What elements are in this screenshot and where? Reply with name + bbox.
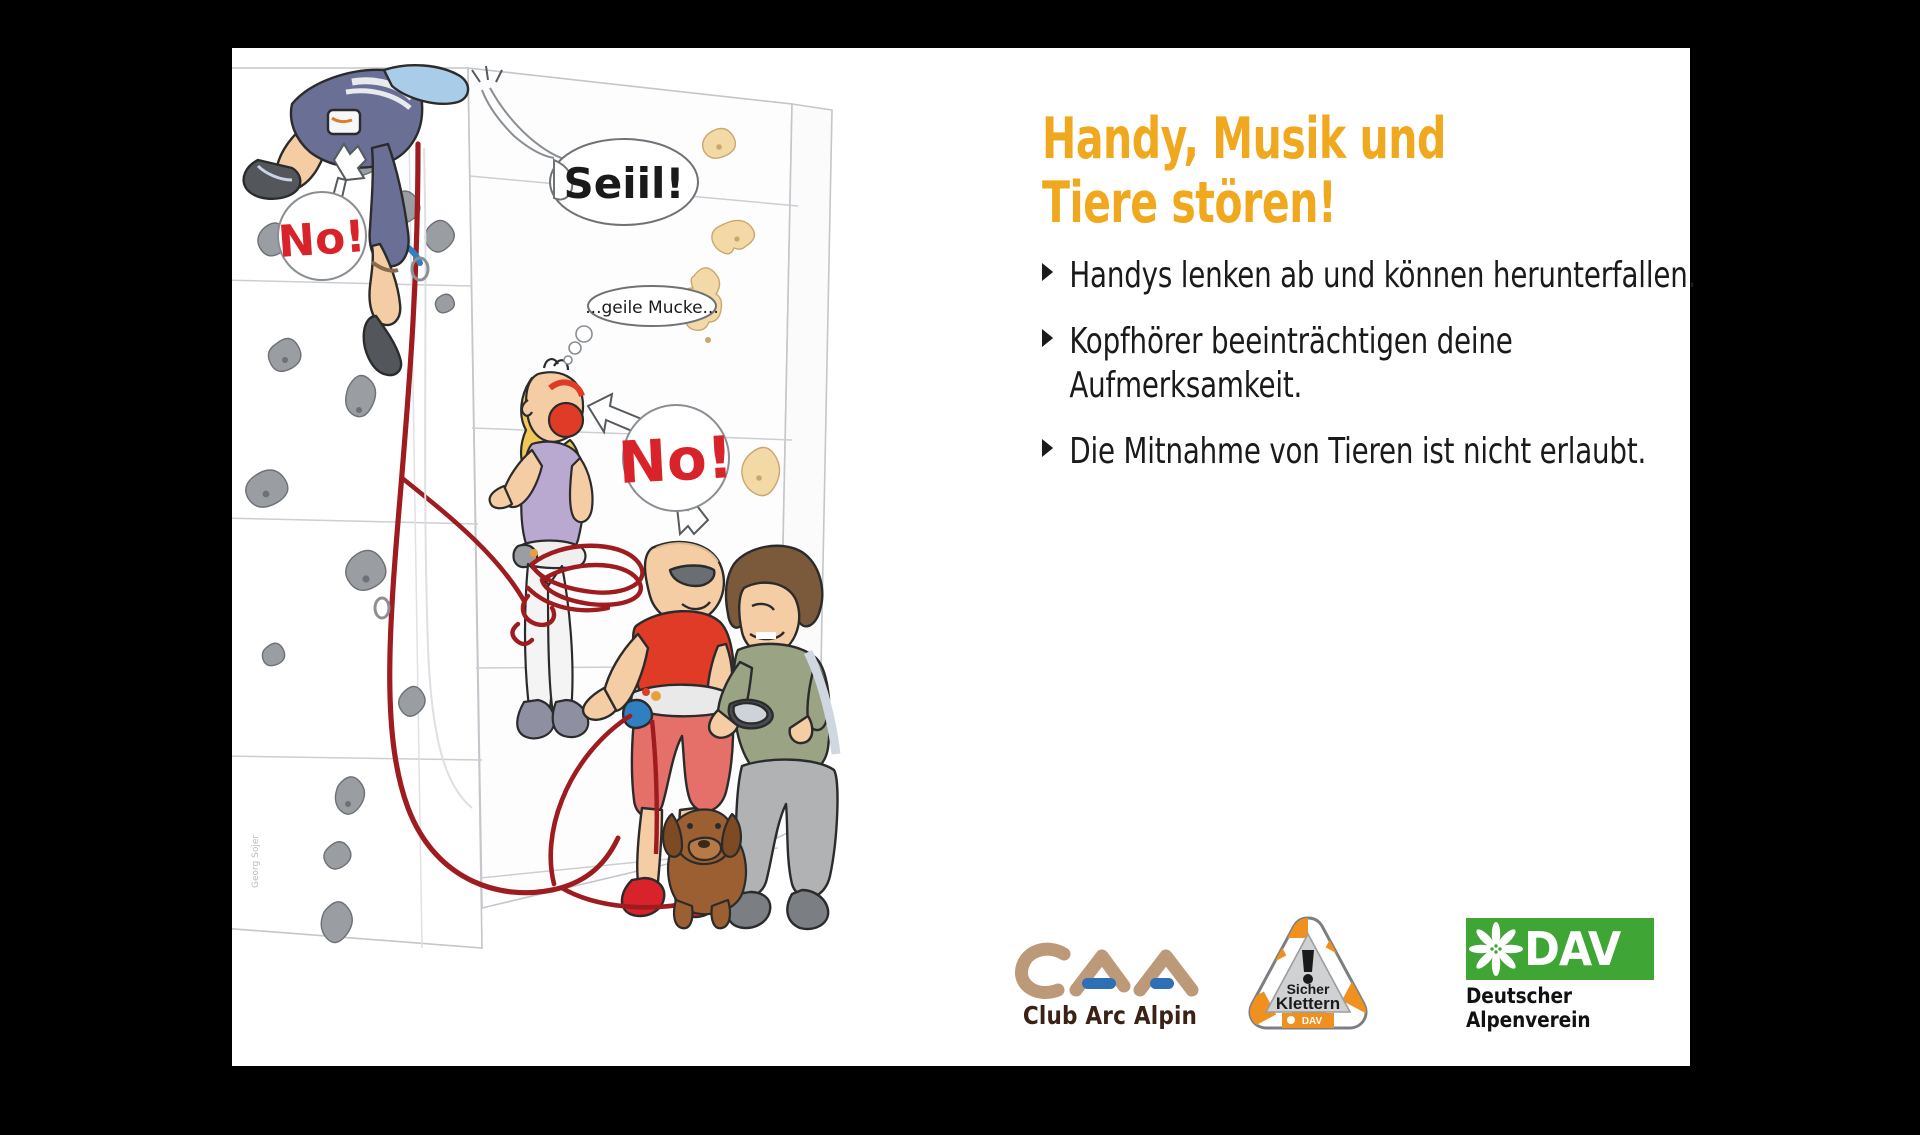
bullet-text-3: Die Mitnahme von Tieren ist nicht erlaub…: [1069, 431, 1646, 472]
triangle-right-icon: [1042, 263, 1053, 281]
artist-signature: Georg Sojer: [251, 835, 261, 888]
bullet-item-2: Kopfhörer beeinträchtigen deine Aufmerks…: [1042, 320, 1728, 408]
club-arc-alpin-wordmark: Club Arc Alpin: [1004, 1001, 1215, 1030]
logo-strip: Club Arc Alpin: [954, 908, 1690, 1038]
text-column: Handy, Musik und Tiere stören! Handys le…: [954, 48, 1690, 1066]
logo-dav: DAV Deutscher Alpenverein: [1466, 918, 1654, 1032]
triangle-right-icon: [1042, 439, 1053, 457]
dav-subtitle: Deutscher Alpenverein: [1466, 984, 1650, 1032]
callout-no-bottom-text: No!: [617, 423, 735, 497]
dav-wordmark: DAV: [1524, 926, 1620, 972]
callout-seiil-text: Seiil!: [563, 159, 684, 208]
climbing-wall-illustration: No! Seiil!: [232, 48, 932, 1066]
logo-club-arc-alpin: Club Arc Alpin: [1000, 938, 1220, 1030]
triangle-right-icon: [1042, 329, 1053, 347]
smartphone: [729, 700, 773, 728]
page-title: Handy, Musik und Tiere stören!: [1042, 108, 1554, 236]
bullet-item-3: Die Mitnahme von Tieren ist nicht erlaub…: [1042, 430, 1728, 474]
club-arc-alpin-mark-icon: [1000, 938, 1220, 1000]
callout-no-top: No!: [276, 192, 366, 280]
bullet-text-2: Kopfhörer beeinträchtigen deine Aufmerks…: [1069, 321, 1512, 406]
bullet-text-1: Handys lenken ab und können herunterfall…: [1069, 255, 1696, 296]
bullet-item-1: Handys lenken ab und können herunterfall…: [1042, 254, 1728, 298]
screenshot-root: No! Seiil!: [0, 0, 1920, 1135]
dav-green-box: DAV: [1466, 918, 1654, 980]
badge-edelweiss-icon: [1287, 1016, 1295, 1024]
callout-geile-mucke-text: ...geile Mucke...: [585, 298, 718, 318]
edelweiss-icon: [1466, 919, 1526, 979]
badge-dav-label: DAV: [1302, 1016, 1323, 1027]
bullet-list: Handys lenken ab und können herunterfall…: [1042, 254, 1702, 496]
slide-canvas: No! Seiil!: [232, 48, 1690, 1066]
exclamation-icon: [1302, 950, 1314, 972]
logo-sicher-klettern: Sicher Klettern DAV: [1242, 912, 1374, 1034]
callout-no-top-text: No!: [276, 211, 366, 268]
sicher-klettern-line2: Klettern: [1276, 994, 1340, 1013]
